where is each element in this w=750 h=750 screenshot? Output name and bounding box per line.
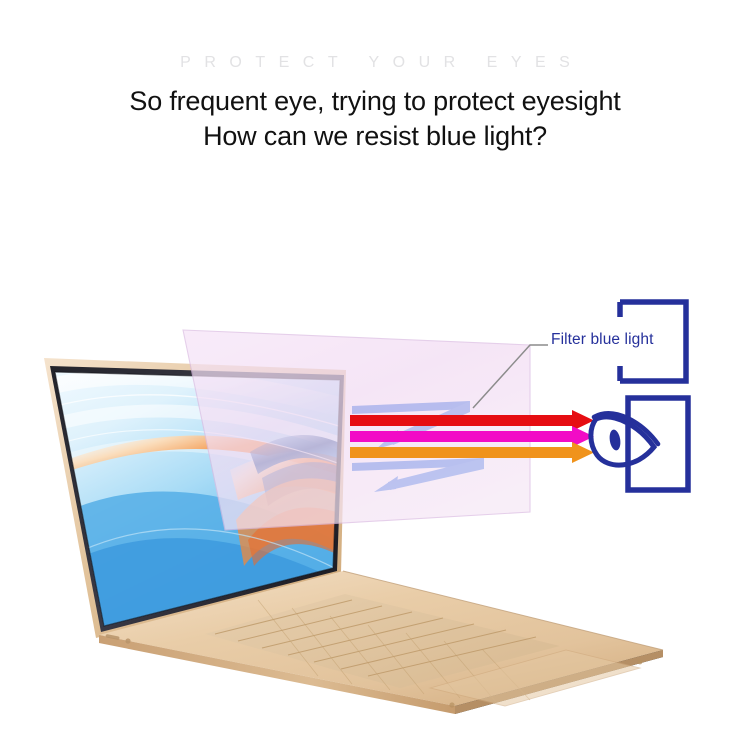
laptop-foot: [449, 702, 454, 707]
eye-pupil: [608, 429, 622, 451]
light-ray-group-transmitted: [350, 410, 594, 463]
product-banner: PROTECT YOUR EYES So frequent eye, tryin…: [0, 0, 750, 750]
blue-light-filter-sheet[interactable]: [183, 330, 530, 530]
eye-icon: [591, 413, 658, 465]
filter-blue-light-label: Filter blue light: [551, 331, 654, 349]
illustration-scene: Filter blue light: [0, 0, 750, 750]
eye-protection-icon: [591, 398, 688, 490]
laptop-foot: [638, 660, 643, 665]
